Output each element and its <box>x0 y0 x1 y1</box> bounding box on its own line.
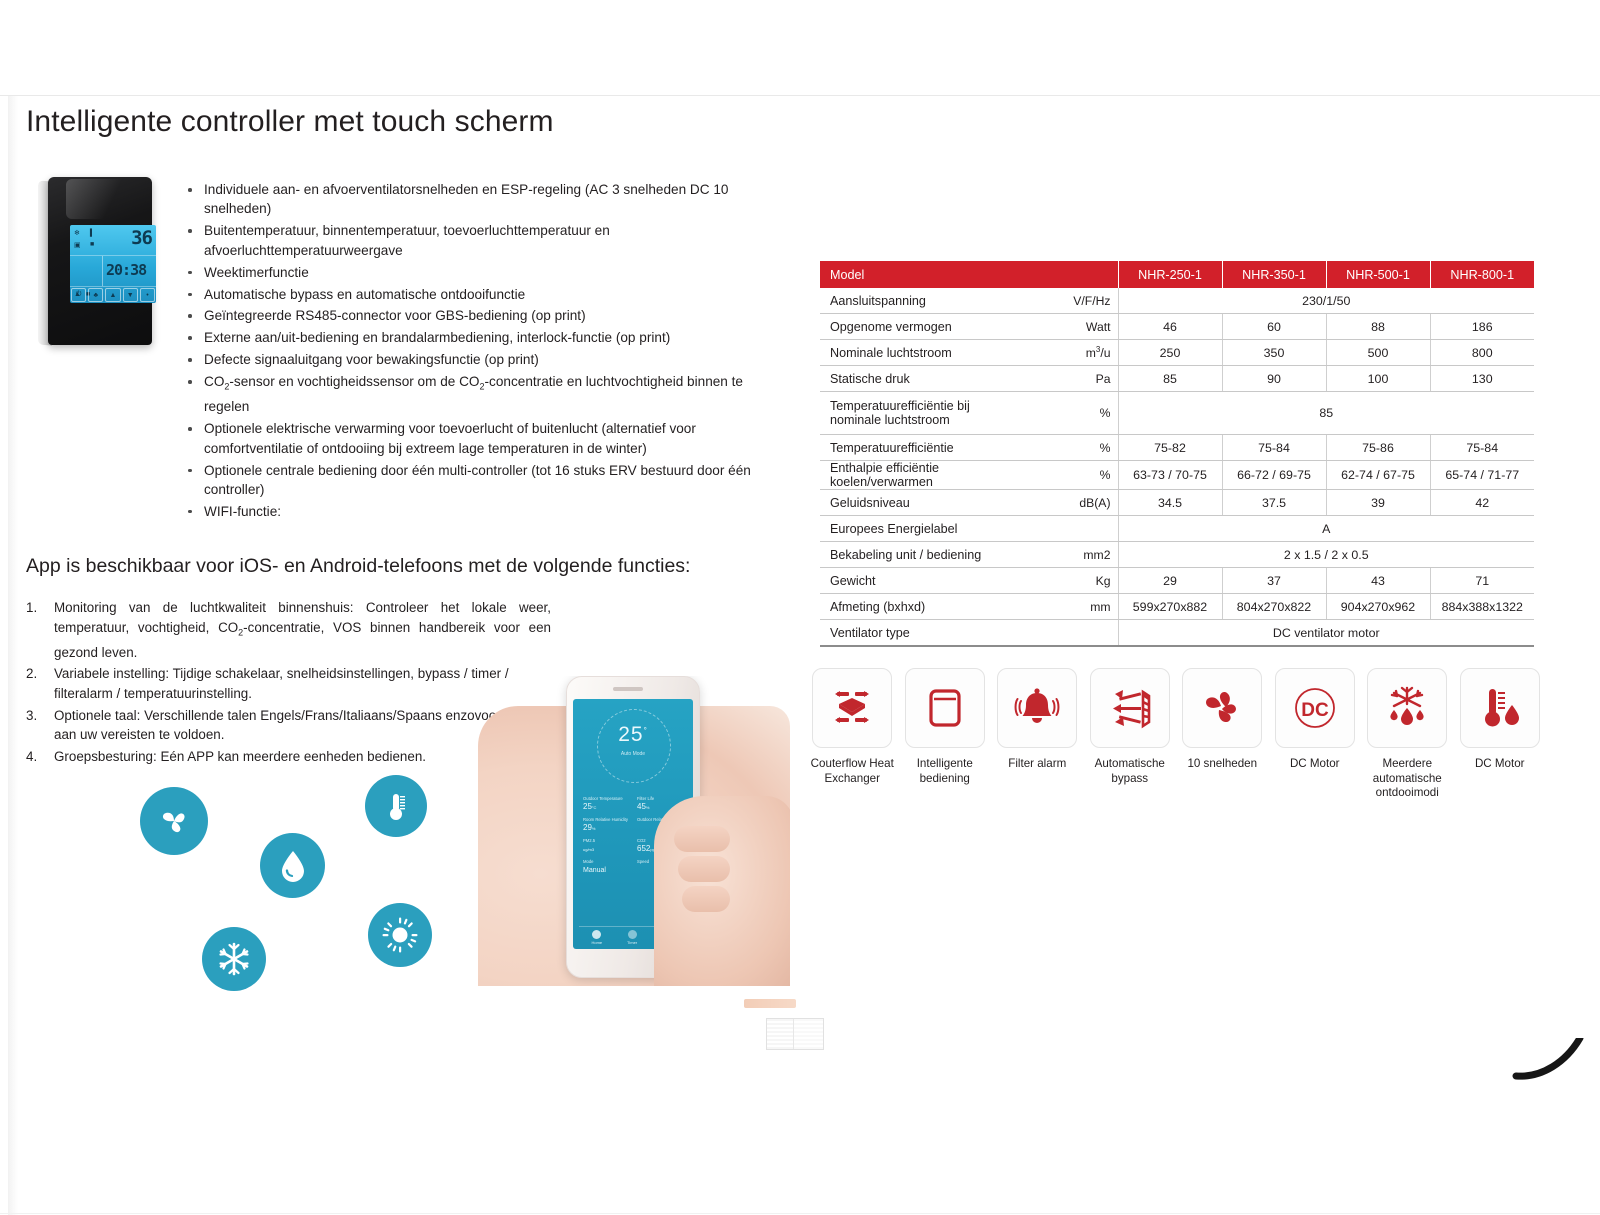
row-span-value: DC ventilator motor <box>1118 620 1534 647</box>
tab-home[interactable]: Home <box>591 930 602 945</box>
list-item: Defecte signaaluitgang voor bewakingsfun… <box>182 350 757 369</box>
list-item: 1. Monitoring van de luchtkwaliteit binn… <box>26 598 551 662</box>
feature-caption: Couterflow Heat Exchanger <box>806 757 898 786</box>
row-value: 186 <box>1430 314 1534 340</box>
counterflow-heat-exchanger-icon <box>812 668 892 748</box>
phone-metric: Room Relative Humidity 29% <box>579 814 633 835</box>
phone-metric: PM2.5 ug/m3 <box>579 835 633 856</box>
lcd-signal-icon: ▍ <box>90 229 95 237</box>
row-value: 75-86 <box>1326 435 1430 461</box>
list-item-number: 4. <box>26 747 46 767</box>
bullet-text: Defecte signaaluitgang voor bewakingsfun… <box>204 352 539 367</box>
phone-metric-value: 25°C <box>583 802 629 811</box>
table-body: Aansluitspanning V/F/Hz 230/1/50 Opgenom… <box>820 288 1534 646</box>
lcd-clock: 20:38 <box>106 261 146 279</box>
feature-caption: Meerdere automatische ontdooimodi <box>1361 757 1453 801</box>
feature-item: Intelligente bediening <box>899 668 992 801</box>
bullet-text: WIFI-functie: <box>204 504 281 519</box>
row-value: 88 <box>1326 314 1430 340</box>
row-value: 46 <box>1118 314 1222 340</box>
row-value: 130 <box>1430 366 1534 392</box>
phone-main-value: 25° <box>573 723 693 747</box>
row-value: 90 <box>1222 366 1326 392</box>
page-bottom-rule <box>0 1213 1600 1214</box>
row-unit: Watt <box>1042 314 1118 340</box>
teal-icon-cluster <box>140 775 490 990</box>
thermometer-drop-icon <box>1460 668 1540 748</box>
feature-icon-strip: Couterflow Heat Exchanger Intelligente b… <box>806 668 1546 801</box>
lcd-button-row: ⏻ ♣ ▲ ▼ • <box>70 287 156 303</box>
feature-item: 10 snelheden <box>1176 668 1269 801</box>
row-unit: % <box>1042 435 1118 461</box>
feature-caption: DC Motor <box>1269 757 1361 772</box>
water-drop-icon <box>260 833 325 898</box>
snowflake-icon <box>202 927 266 991</box>
row-label: Temperatuurefficiëntie bijnominale lucht… <box>820 392 1042 435</box>
row-label: Nominale luchtstroom <box>820 340 1042 366</box>
list-item-text: Optionele taal: Verschillende talen Enge… <box>54 708 527 743</box>
bullet-text: Weektimerfunctie <box>204 265 309 280</box>
app-feature-list: 1. Monitoring van de luchtkwaliteit binn… <box>26 598 551 768</box>
lcd-down-button[interactable]: ▼ <box>123 288 138 302</box>
row-value: 904x270x962 <box>1326 594 1430 620</box>
list-item-number: 3. <box>26 706 46 726</box>
feature-caption: Automatische bypass <box>1084 757 1176 786</box>
row-label: Statische druk <box>820 366 1042 392</box>
page-left-edge <box>8 96 18 1215</box>
row-value: 42 <box>1430 490 1534 516</box>
list-item: Geïntegreerde RS485-connector voor GBS-b… <box>182 306 757 325</box>
list-item: 2. Variabele instelling: Tijdige schakel… <box>26 664 551 703</box>
lcd-fan-button[interactable]: ♣ <box>88 288 103 302</box>
row-label: Gewicht <box>820 568 1042 594</box>
row-value: 39 <box>1326 490 1430 516</box>
header-model-nhr-250: NHR-250-1 <box>1118 261 1222 288</box>
list-item: Optionele centrale bediening door één mu… <box>182 461 757 500</box>
header-model-nhr-500: NHR-500-1 <box>1326 261 1430 288</box>
lcd-mode-icon: ■ <box>90 241 94 248</box>
list-item: Weektimerfunctie <box>182 263 757 282</box>
page-title: Intelligente controller met touch scherm <box>26 105 554 139</box>
phone-metric-value: ug/m3 <box>583 844 629 853</box>
list-item: Automatische bypass en automatische ontd… <box>182 285 757 304</box>
intelligent-control-icon <box>905 668 985 748</box>
phone-metric-key: Outdoor Temperature <box>583 796 629 801</box>
feature-item: Couterflow Heat Exchanger <box>806 668 899 801</box>
row-unit <box>1042 516 1118 542</box>
table-row: Temperatuurefficiëntie % 75-82 75-84 75-… <box>820 435 1534 461</box>
phone-metric: Mode Manual <box>579 856 633 877</box>
phone-metric-value: 29% <box>583 823 629 832</box>
feature-item: Automatische bypass <box>1084 668 1177 801</box>
list-item-text: Monitoring van de luchtkwaliteit binnens… <box>54 600 551 660</box>
row-value: 66-72 / 69-75 <box>1222 461 1326 490</box>
fingers <box>674 826 790 986</box>
bell-icon <box>997 668 1077 748</box>
list-item: Buitentemperatuur, binnentemperatuur, to… <box>182 221 757 260</box>
table-row: Temperatuurefficiëntie bijnominale lucht… <box>820 392 1534 435</box>
row-value: 71 <box>1430 568 1534 594</box>
bullet-text-co2: CO2-sensor en vochtigheidssensor om de C… <box>204 374 743 414</box>
row-label: Temperatuurefficiëntie <box>820 435 1042 461</box>
dc-motor-icon: DC <box>1275 668 1355 748</box>
finger <box>674 826 730 852</box>
bullet-text: Automatische bypass en automatische ontd… <box>204 287 525 302</box>
fan-blades-icon <box>1182 668 1262 748</box>
header-model-nhr-800: NHR-800-1 <box>1430 261 1534 288</box>
list-item: WIFI-functie: <box>182 502 757 521</box>
feature-bullet-list: Individuele aan- en afvoerventilatorsnel… <box>182 180 757 524</box>
row-unit: % <box>1042 461 1118 490</box>
table-row: Ventilator type DC ventilator motor <box>820 620 1534 647</box>
row-unit: V/F/Hz <box>1042 288 1118 314</box>
row-value: 75-84 <box>1430 435 1534 461</box>
lcd-fan-icon: ▣ <box>74 241 81 249</box>
sun-icon <box>368 903 432 967</box>
row-unit: Kg <box>1042 568 1118 594</box>
list-item-text: Variabele instelling: Tijdige schakelaar… <box>54 666 509 701</box>
row-unit <box>1042 620 1118 647</box>
tab-timer[interactable]: Timer <box>627 930 637 945</box>
phone-metric-value: Manual <box>583 865 629 874</box>
header-model-label: Model <box>820 261 1118 288</box>
row-span-value: 85 <box>1118 392 1534 435</box>
app-section-heading: App is beschikbaar voor iOS- en Android-… <box>26 555 690 578</box>
row-unit: mm <box>1042 594 1118 620</box>
table-row: Statische druk Pa 85 90 100 130 <box>820 366 1534 392</box>
bullet-text: Optionele elektrische verwarming voor to… <box>204 421 696 455</box>
home-icon <box>592 930 601 939</box>
bypass-damper-icon <box>1090 668 1170 748</box>
row-value: 500 <box>1326 340 1430 366</box>
row-value: 75-84 <box>1222 435 1326 461</box>
row-value: 29 <box>1118 568 1222 594</box>
page-thumbnail-artifact <box>766 1018 824 1050</box>
table-header: Model NHR-250-1 NHR-350-1 NHR-500-1 NHR-… <box>820 261 1534 288</box>
controller-body: ❄ ▣ ▍ ■ 36 ▲ ■ 20:38 ⏻ ♣ ▲ ▼ • <box>48 177 152 345</box>
row-value: 350 <box>1222 340 1326 366</box>
timer-icon <box>628 930 637 939</box>
list-item: Individuele aan- en afvoerventilatorsnel… <box>182 180 757 219</box>
row-value: 75-82 <box>1118 435 1222 461</box>
row-label: Afmeting (bxhxd) <box>820 594 1042 620</box>
list-item: 4. Groepsbesturing: Eén APP kan meerdere… <box>26 747 551 767</box>
phone-metric-key: Filter Life <box>637 796 683 801</box>
list-item-number: 1. <box>26 598 46 618</box>
row-span-value: A <box>1118 516 1534 542</box>
table-row: Enthalpie efficiëntie koelen/verwarmen %… <box>820 461 1534 490</box>
table-row: Opgenome vermogen Watt 46 60 88 186 <box>820 314 1534 340</box>
feature-item: DC Motor <box>1454 668 1547 801</box>
bullet-text: Externe aan/uit-bediening en brandalarmb… <box>204 330 670 345</box>
header-model-nhr-350: NHR-350-1 <box>1222 261 1326 288</box>
document-page: Intelligente controller met touch scherm… <box>0 0 1600 1200</box>
row-unit: % <box>1042 392 1118 435</box>
row-value: 43 <box>1326 568 1430 594</box>
bullet-text: Buitentemperatuur, binnentemperatuur, to… <box>204 223 610 257</box>
phone-main-subtitle: Auto Mode <box>573 751 693 757</box>
table-row: Aansluitspanning V/F/Hz 230/1/50 <box>820 288 1534 314</box>
page-curl-swoosh <box>1496 1038 1588 1158</box>
row-value: 37 <box>1222 568 1326 594</box>
feature-caption: Intelligente bediening <box>899 757 991 786</box>
feature-caption: 10 snelheden <box>1176 757 1268 772</box>
table-row: Bekabeling unit / bediening mm2 2 x 1.5 … <box>820 542 1534 568</box>
thumbnail-right-page <box>794 1019 823 1049</box>
row-value: 250 <box>1118 340 1222 366</box>
bullet-text: Optionele centrale bediening door één mu… <box>204 463 751 497</box>
lcd-row-top: ❄ ▣ ▍ ■ 36 <box>70 225 156 256</box>
thumbnail-left-page <box>767 1019 794 1049</box>
row-value: 800 <box>1430 340 1534 366</box>
phone-metric-key: PM2.5 <box>583 838 629 843</box>
svg-text:DC: DC <box>1301 700 1329 721</box>
list-item-text: Groepsbesturing: Eén APP kan meerdere ee… <box>54 749 426 764</box>
phone-speaker <box>613 687 643 691</box>
row-value: 599x270x882 <box>1118 594 1222 620</box>
bullet-text: Geïntegreerde RS485-connector voor GBS-b… <box>204 308 586 323</box>
page-top-rule <box>0 95 1600 96</box>
table-row: Geluidsniveau dB(A) 34.5 37.5 39 42 <box>820 490 1534 516</box>
row-label: Bekabeling unit / bediening <box>820 542 1042 568</box>
phone-metric: Outdoor Temperature 25°C <box>579 793 633 814</box>
row-value: 63-73 / 70-75 <box>1118 461 1222 490</box>
fan-icon <box>140 787 208 855</box>
controller-photo: ❄ ▣ ▍ ■ 36 ▲ ■ 20:38 ⏻ ♣ ▲ ▼ • <box>36 177 152 347</box>
row-label: Geluidsniveau <box>820 490 1042 516</box>
row-unit: dB(A) <box>1042 490 1118 516</box>
row-unit: m3/u <box>1042 340 1118 366</box>
row-unit: mm2 <box>1042 542 1118 568</box>
feature-caption: DC Motor <box>1454 757 1546 772</box>
table-row: Europees Energielabel A <box>820 516 1534 542</box>
page-artifact-smudge <box>744 999 796 1008</box>
feature-caption: Filter alarm <box>991 757 1083 772</box>
feature-item: Meerdere automatische ontdooimodi <box>1361 668 1454 801</box>
row-value: 37.5 <box>1222 490 1326 516</box>
row-label: Enthalpie efficiëntie koelen/verwarmen <box>820 461 1042 490</box>
table-row: Gewicht Kg 29 37 43 71 <box>820 568 1534 594</box>
row-value: 60 <box>1222 314 1326 340</box>
spec-table: Model NHR-250-1 NHR-350-1 NHR-500-1 NHR-… <box>820 261 1534 647</box>
table-row: Afmeting (bxhxd) mm 599x270x882 804x270x… <box>820 594 1534 620</box>
row-unit: Pa <box>1042 366 1118 392</box>
thermometer-icon <box>365 775 427 837</box>
feature-item: DC DC Motor <box>1269 668 1362 801</box>
row-label: Ventilator type <box>820 620 1042 647</box>
list-item: CO2-sensor en vochtigheidssensor om de C… <box>182 372 757 417</box>
row-span-value: 2 x 1.5 / 2 x 0.5 <box>1118 542 1534 568</box>
row-value: 884x388x1322 <box>1430 594 1534 620</box>
table-row: Nominale luchtstroom m3/u 250 350 500 80… <box>820 340 1534 366</box>
phone-metric-key: Mode <box>583 859 629 864</box>
phone-photo: 25° Auto Mode Outdoor Temperature 25°C F… <box>478 676 790 986</box>
lcd-snowflake-icon: ❄ <box>74 229 80 237</box>
row-label: Opgenome vermogen <box>820 314 1042 340</box>
lcd-temperature: 36 <box>131 227 152 249</box>
row-label: Aansluitspanning <box>820 288 1042 314</box>
lcd-power-button[interactable]: ⏻ <box>71 288 86 302</box>
row-value: 65-74 / 71-77 <box>1430 461 1534 490</box>
phone-temp-unit: ° <box>644 726 648 735</box>
list-item: Optionele elektrische verwarming voor to… <box>182 419 757 458</box>
phone-metric-key: Room Relative Humidity <box>583 817 629 822</box>
finger <box>678 856 730 882</box>
row-span-value: 230/1/50 <box>1118 288 1534 314</box>
bullet-text: Individuele aan- en afvoerventilatorsnel… <box>204 182 728 216</box>
list-item-number: 2. <box>26 664 46 684</box>
lcd-up-button[interactable]: ▲ <box>105 288 120 302</box>
finger <box>682 886 730 912</box>
row-value: 804x270x822 <box>1222 594 1326 620</box>
row-label: Europees Energielabel <box>820 516 1042 542</box>
row-value: 34.5 <box>1118 490 1222 516</box>
phone-temp-number: 25 <box>618 723 643 746</box>
list-item: Externe aan/uit-bediening en brandalarmb… <box>182 328 757 347</box>
row-value: 100 <box>1326 366 1430 392</box>
defrost-icon <box>1367 668 1447 748</box>
feature-item: Filter alarm <box>991 668 1084 801</box>
row-value: 85 <box>1118 366 1222 392</box>
row-value: 62-74 / 67-75 <box>1326 461 1430 490</box>
controller-lcd: ❄ ▣ ▍ ■ 36 ▲ ■ 20:38 ⏻ ♣ ▲ ▼ • <box>70 225 156 303</box>
table-header-row: Model NHR-250-1 NHR-350-1 NHR-500-1 NHR-… <box>820 261 1534 288</box>
lcd-ok-button[interactable]: • <box>140 288 155 302</box>
lcd-divider <box>102 256 103 286</box>
controller-gloss <box>66 179 128 219</box>
list-item: 3. Optionele taal: Verschillende talen E… <box>26 706 551 745</box>
